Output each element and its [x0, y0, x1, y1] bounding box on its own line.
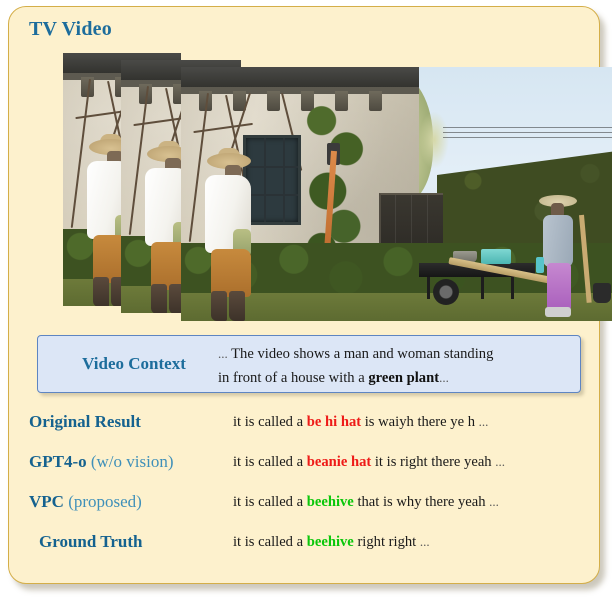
answer-ellipsis: ... [495, 454, 505, 469]
roof-eave [181, 67, 419, 87]
wheelbarrow-wheel [433, 279, 459, 305]
answer-ellipsis: ... [489, 494, 499, 509]
spade [593, 283, 611, 303]
answer-highlight-error: be hi hat [307, 414, 361, 430]
row-label-soft: (w/o vision) [87, 452, 174, 471]
result-row-gpt4o: GPT4-o (w/o vision) it is called a beani… [17, 443, 609, 483]
context-line-2-pre: in front of a house with a [218, 370, 368, 386]
video-context-label: Video Context [54, 354, 214, 374]
row-label-strong: Original Result [29, 412, 141, 431]
answer-ellipsis: ... [479, 414, 489, 429]
row-label-strong: GPT4-o [29, 452, 87, 471]
result-row-ground-truth: Ground Truth it is called a beehive righ… [17, 523, 609, 563]
answer-prefix: it is called a [233, 414, 307, 430]
teal-crate [481, 249, 511, 264]
answer-suffix: it is right there yeah [371, 454, 495, 470]
roof-eave-shadow [181, 87, 419, 94]
leading-ellipsis: ... [218, 346, 228, 361]
answer-highlight-error: beanie hat [307, 454, 371, 470]
page-title: TV Video [29, 18, 112, 41]
answer-suffix: is waiyh there ye h [361, 414, 479, 430]
video-scene-3 [181, 67, 612, 321]
answer-highlight-correct: beehive [307, 534, 354, 550]
answer-prefix: it is called a [233, 494, 307, 510]
context-keyword: green plant [368, 370, 439, 386]
row-label-strong: Ground Truth [39, 532, 142, 551]
row-label-strong: VPC [29, 492, 64, 511]
figure-root: TV Video [0, 0, 612, 604]
result-row-vpc: VPC (proposed) it is called a beehive th… [17, 483, 609, 523]
video-context-box: Video Context ... The video shows a man … [37, 335, 581, 393]
answer-highlight-correct: beehive [307, 494, 354, 510]
row-answer-vpc: it is called a beehive that is why there… [233, 494, 499, 511]
row-label-ground-truth: Ground Truth [39, 532, 142, 552]
row-label-gpt4o: GPT4-o (w/o vision) [29, 452, 174, 472]
answer-prefix: it is called a [233, 454, 307, 470]
context-line-1: The video shows a man and woman standing [231, 346, 493, 362]
woman-figure [539, 195, 579, 321]
row-label-original-result: Original Result [29, 412, 141, 432]
row-answer-ground-truth: it is called a beehive right right ... [233, 534, 430, 551]
row-label-vpc: VPC (proposed) [29, 492, 142, 512]
video-frame-stack [63, 53, 555, 325]
trailing-ellipsis: ... [439, 370, 449, 385]
video-frame-3[interactable] [181, 67, 612, 321]
answer-prefix: it is called a [233, 534, 307, 550]
results-list: Original Result it is called a be hi hat… [17, 403, 609, 563]
answer-suffix: that is why there yeah [354, 494, 489, 510]
result-row-original: Original Result it is called a be hi hat… [17, 403, 609, 443]
row-answer-gpt4o: it is called a beanie hat it is right th… [233, 454, 505, 471]
tv-video-card: TV Video [8, 6, 600, 584]
row-label-soft: (proposed) [64, 492, 142, 511]
video-context-text: ... The video shows a man and woman stan… [218, 342, 574, 390]
answer-ellipsis: ... [420, 534, 430, 549]
man-figure [203, 153, 259, 321]
row-answer-original-result: it is called a be hi hat is waiyh there … [233, 414, 488, 431]
overhead-wires [443, 123, 612, 143]
answer-suffix: right right [354, 534, 420, 550]
